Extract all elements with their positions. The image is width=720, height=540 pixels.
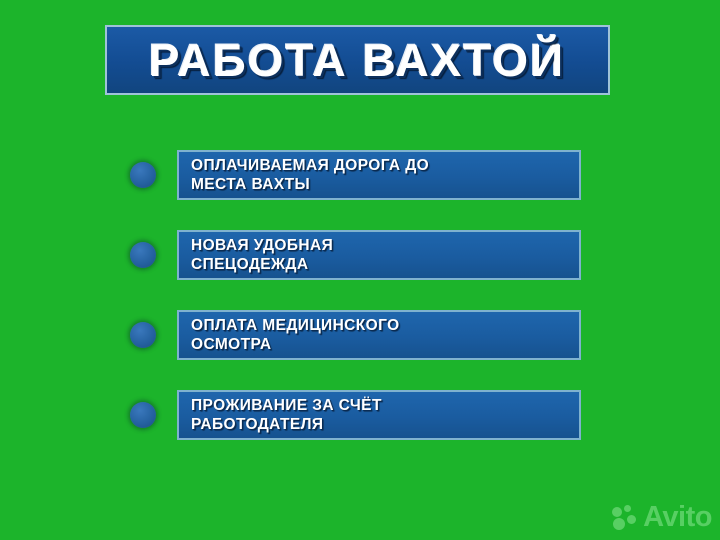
bullet-dot-icon <box>130 402 156 428</box>
title-banner: РАБОТА ВАХТОЙ <box>105 25 610 95</box>
benefit-box: ПРОЖИВАНИЕ ЗА СЧЁТ РАБОТОДАТЕЛЯ <box>177 390 581 440</box>
benefits-list: ОПЛАЧИВАЕМАЯ ДОРОГА ДО МЕСТА ВАХТЫ НОВАЯ… <box>0 150 720 470</box>
list-item: НОВАЯ УДОБНАЯ СПЕЦОДЕЖДА <box>0 230 720 280</box>
bullet-dot-icon <box>130 322 156 348</box>
job-ad-poster: РАБОТА ВАХТОЙ ОПЛАЧИВАЕМАЯ ДОРОГА ДО МЕС… <box>0 0 720 540</box>
avito-dots-icon <box>612 505 638 531</box>
list-item: ОПЛАТА МЕДИЦИНСКОГО ОСМОТРА <box>0 310 720 360</box>
benefit-label: ПРОЖИВАНИЕ ЗА СЧЁТ РАБОТОДАТЕЛЯ <box>191 396 382 434</box>
avito-watermark: Avito <box>612 503 712 532</box>
bullet-dot-icon <box>130 242 156 268</box>
benefit-box: ОПЛАЧИВАЕМАЯ ДОРОГА ДО МЕСТА ВАХТЫ <box>177 150 581 200</box>
benefit-label: ОПЛАЧИВАЕМАЯ ДОРОГА ДО МЕСТА ВАХТЫ <box>191 156 429 194</box>
benefit-box: ОПЛАТА МЕДИЦИНСКОГО ОСМОТРА <box>177 310 581 360</box>
page-title: РАБОТА ВАХТОЙ <box>149 38 565 83</box>
list-item: ОПЛАЧИВАЕМАЯ ДОРОГА ДО МЕСТА ВАХТЫ <box>0 150 720 200</box>
bullet-dot-icon <box>130 162 156 188</box>
benefit-label: ОПЛАТА МЕДИЦИНСКОГО ОСМОТРА <box>191 316 400 354</box>
benefit-box: НОВАЯ УДОБНАЯ СПЕЦОДЕЖДА <box>177 230 581 280</box>
avito-wordmark: Avito <box>643 503 712 532</box>
benefit-label: НОВАЯ УДОБНАЯ СПЕЦОДЕЖДА <box>191 236 333 274</box>
list-item: ПРОЖИВАНИЕ ЗА СЧЁТ РАБОТОДАТЕЛЯ <box>0 390 720 440</box>
